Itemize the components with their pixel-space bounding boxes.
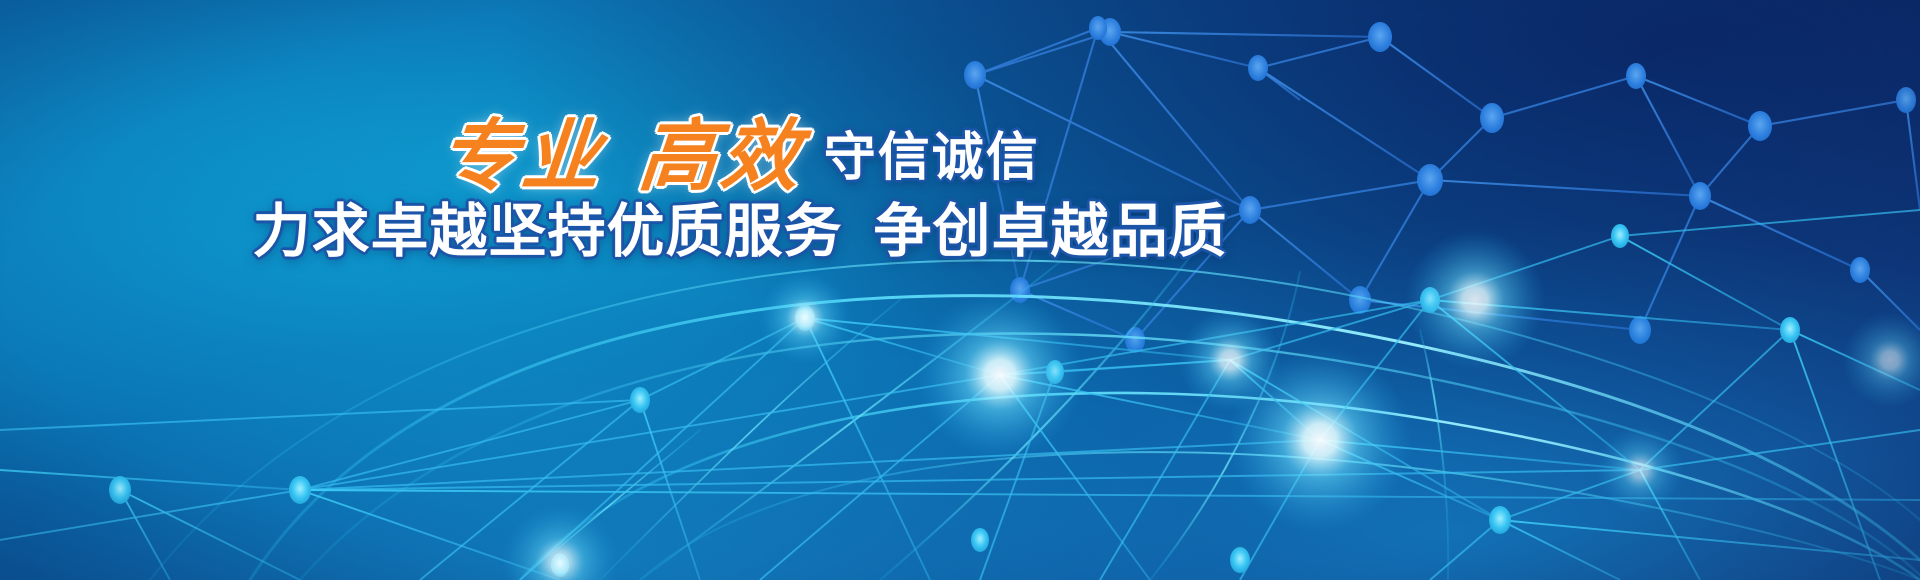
- background-vignette: [0, 0, 1920, 580]
- hero-banner: 专业 高效 守信诚信 力求卓越坚持优质服务 争创卓越品质: [0, 0, 1920, 580]
